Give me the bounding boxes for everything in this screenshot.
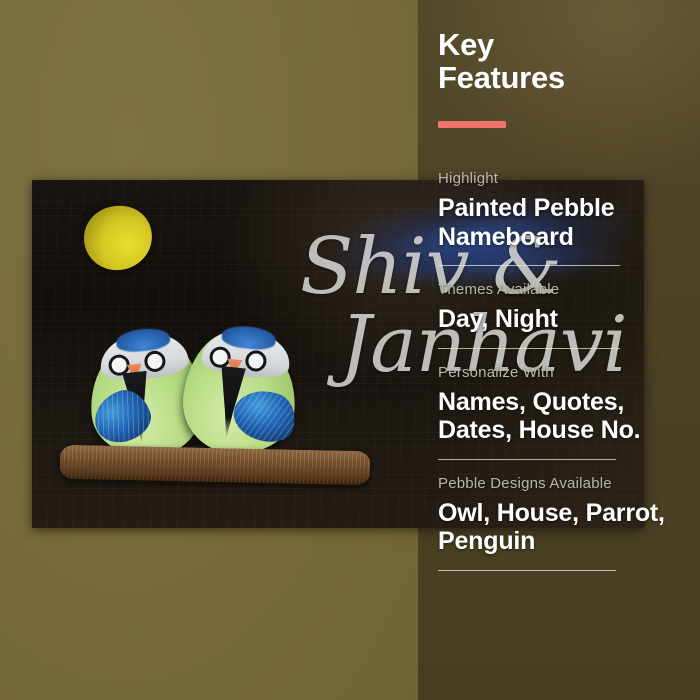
feature-divider [438, 459, 616, 460]
feature-list: Highlight Painted Pebble Nameboard Theme… [418, 170, 700, 586]
panel-title-line-1: Key [438, 28, 565, 61]
key-features-panel: Key Features Highlight Painted Pebble Na… [418, 0, 700, 700]
feature-value: Owl, House, Parrot, Penguin [438, 499, 700, 556]
feature-value: Day, Night [438, 305, 700, 334]
infographic-canvas: Shiv & Janhavi Key Features Highlight Pa… [0, 0, 700, 700]
feature-value: Names, Quotes, Dates, House No. [438, 388, 700, 445]
feature-label: Themes Available [438, 281, 700, 298]
feature-label: Pebble Designs Available [438, 475, 700, 492]
feature-item-designs: Pebble Designs Available Owl, House, Par… [418, 475, 700, 556]
feature-divider [438, 570, 616, 571]
feature-divider [438, 348, 620, 349]
panel-title-line-2: Features [438, 61, 565, 94]
feature-divider [438, 265, 620, 266]
feature-item-themes: Themes Available Day, Night [418, 281, 700, 334]
feature-label: Highlight [438, 170, 700, 187]
feature-item-highlight: Highlight Painted Pebble Nameboard [418, 170, 700, 251]
panel-title: Key Features [438, 28, 565, 95]
feature-value: Painted Pebble Nameboard [438, 194, 700, 251]
feature-item-personalize: Personalize With Names, Quotes, Dates, H… [418, 364, 700, 445]
accent-bar [438, 121, 506, 128]
wooden-branch [60, 445, 371, 485]
feature-label: Personalize With [438, 364, 700, 381]
